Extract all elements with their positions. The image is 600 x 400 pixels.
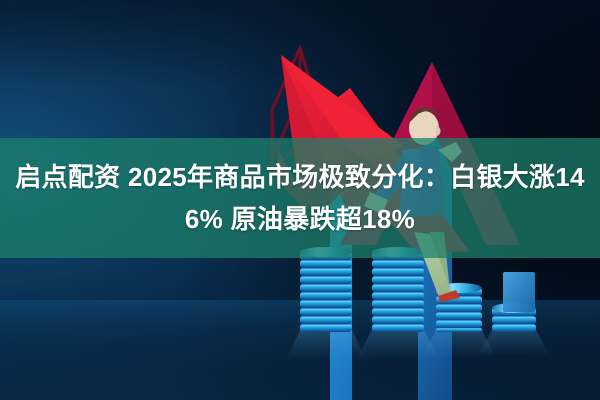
page-title: 启点配资 2025年商品市场极致分化：白银大涨146% 原油暴跌超18% xyxy=(14,156,586,240)
coin-shadows xyxy=(286,330,550,360)
cover-canvas: 启点配资 2025年商品市场极致分化：白银大涨146% 原油暴跌超18% xyxy=(0,0,600,400)
caption-band: 启点配资 2025年商品市场极致分化：白银大涨146% 原油暴跌超18% xyxy=(0,138,600,258)
blue-banknote xyxy=(503,272,535,312)
coin-stack-2 xyxy=(372,247,424,332)
coin-stack-1 xyxy=(300,247,352,332)
caption-inner: 启点配资 2025年商品市场极致分化：白银大涨146% 原油暴跌超18% xyxy=(0,156,600,240)
